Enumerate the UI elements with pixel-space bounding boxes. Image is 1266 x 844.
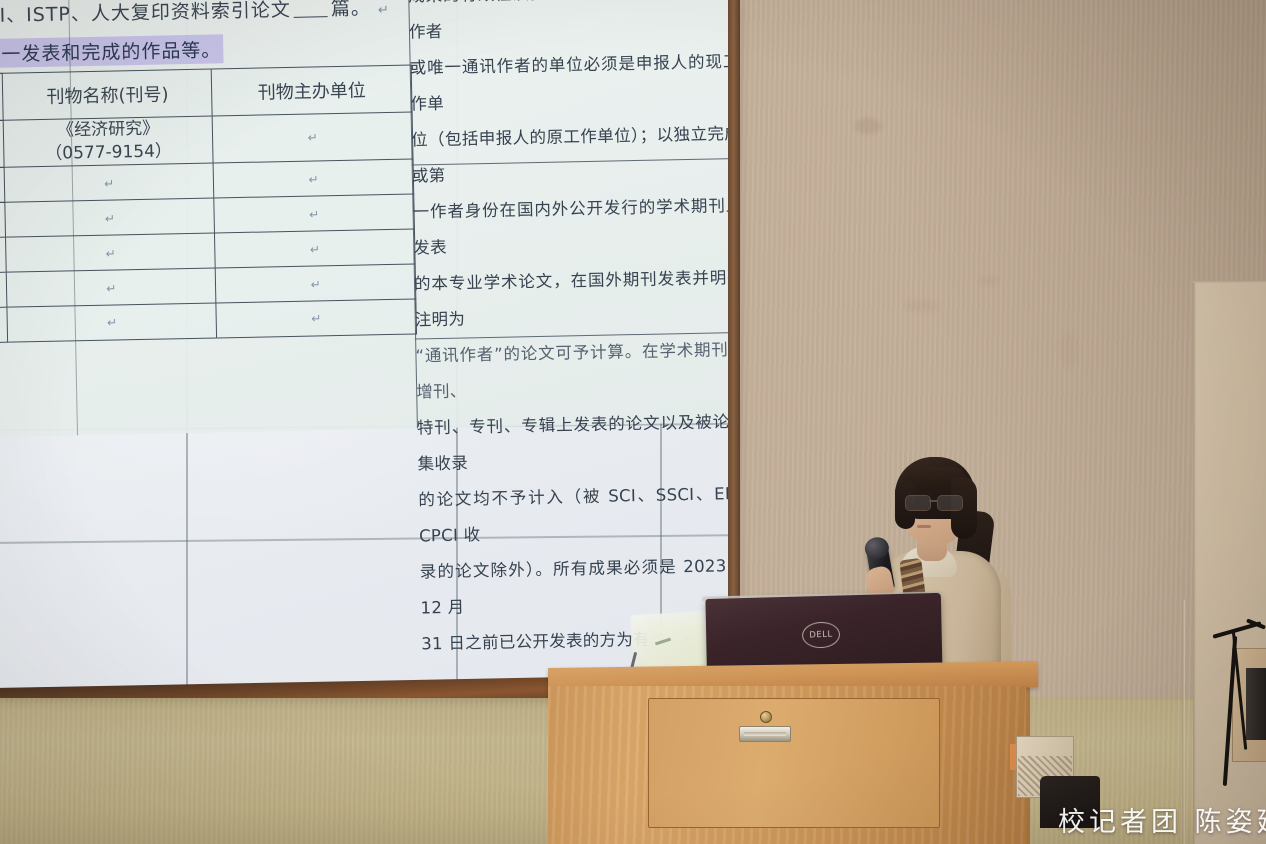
projection-screen: 、EI、ISTP、人大复印资料索引论文篇。 ↵ 成第一发表和完成的作品等。 表年… xyxy=(0,0,740,698)
lens-right xyxy=(937,495,963,511)
table-cell: ↵ xyxy=(212,112,413,163)
doc-paragraph-line: 一作者身份在国内外公开发行的学术期刊上发表 xyxy=(412,188,740,267)
table-cell: ↵ xyxy=(7,268,217,307)
doc-paragraph-line: 位（包括申报人的原工作单位）；以独立完成或第 xyxy=(411,116,740,195)
table-cell: ↵ xyxy=(216,299,416,338)
table-cell: ↵ xyxy=(7,303,217,342)
wall-mark xyxy=(1060,330,1078,370)
screen-right-trim xyxy=(728,0,740,698)
table-col-header-2: 刊物主办单位 xyxy=(211,65,412,116)
doc-paragraph-line: “通讯作者”的论文可予计算。在学术期刊的增刊、 xyxy=(415,332,740,411)
doc-paragraph-line: 或唯一通讯作者的单位必须是申报人的现工作单 xyxy=(409,44,740,123)
table-cell: ↵ xyxy=(4,163,214,202)
photo-scene: 、EI、ISTP、人大复印资料索引论文篇。 ↵ 成第一发表和完成的作品等。 表年… xyxy=(0,0,1266,844)
table-cell: ↵ xyxy=(5,198,215,237)
doc-paragraph-line: 的论文均不予计入（被 SCI、SSCI、EI、CPCI 收 xyxy=(418,476,740,555)
table-cell: ↵ xyxy=(213,159,413,198)
projected-document: 、EI、ISTP、人大复印资料索引论文篇。 ↵ 成第一发表和完成的作品等。 表年… xyxy=(0,0,740,438)
lens-left xyxy=(905,495,931,511)
wall-mark xyxy=(905,300,939,312)
doc-paragraph-line: 的本专业学术论文，在国外期刊发表并明确注明为 xyxy=(414,260,740,339)
dell-logo-icon: DELL xyxy=(802,621,841,648)
drawer-handle[interactable] xyxy=(739,726,791,742)
podium-drawer-panel[interactable] xyxy=(648,698,940,828)
document-left-column: 、EI、ISTP、人大复印资料索引论文篇。 ↵ 成第一发表和完成的作品等。 表年… xyxy=(0,0,417,438)
eyeglasses xyxy=(903,495,965,509)
mouth xyxy=(917,525,931,528)
table-cell: 《经济研究》 （0577-9154） xyxy=(4,116,214,167)
table-cell: ↵ xyxy=(214,194,414,233)
table-row: ↵ ↵ ↵ xyxy=(0,299,417,345)
table-col-header-1: 刊物名称(刊号) xyxy=(3,69,213,120)
table-cell: ↵ xyxy=(215,229,415,268)
table-cell: ↵ xyxy=(215,264,415,303)
wall-mark xyxy=(855,118,881,134)
wall-mark xyxy=(978,276,1000,286)
table-cell: ↵ xyxy=(6,233,216,272)
doc-header-line-1: 、EI、ISTP、人大复印资料索引论文篇。 ↵ xyxy=(0,0,390,28)
microphone-head xyxy=(863,535,890,561)
document-right-column: 成果的有效性及要求：署名独立作者、第一作者 或唯一通讯作者的单位必须是申报人的现… xyxy=(408,0,740,662)
photographer-watermark: 校记者团 陈姿延 xyxy=(1058,800,1266,839)
doc-header-line-2-highlighted: 成第一发表和完成的作品等。 xyxy=(0,34,224,68)
document-table: 表年月 刊物名称(刊号) 刊物主办单位 22. 10 《经济研究》 （0577-… xyxy=(0,65,417,345)
right-equipment-slot xyxy=(1246,668,1266,740)
doc-paragraph-line: 特刊、专刊、专辑上发表的论文以及被论文集收录 xyxy=(417,404,740,483)
doc-paragraph-line: 成果的有效性及要求：署名独立作者、第一作者 xyxy=(408,0,740,51)
lock-icon[interactable] xyxy=(760,711,772,723)
